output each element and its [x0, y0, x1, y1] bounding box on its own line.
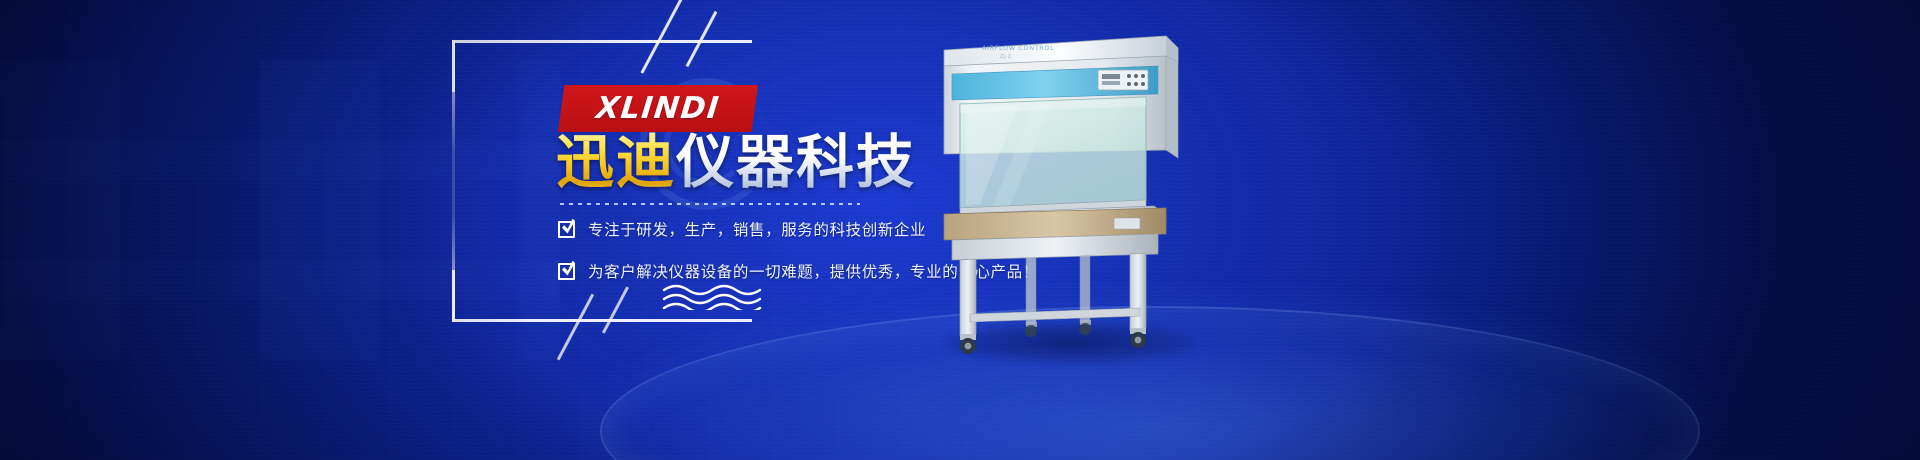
page-title-white-part: 仪器科技 — [676, 128, 916, 196]
product-brand-label: AIRFLOW CONTROL — [982, 44, 1054, 52]
castor-wheel — [1130, 328, 1146, 348]
castor-wheel — [1079, 320, 1091, 335]
castor-wheel — [1025, 322, 1037, 337]
title-divider — [560, 203, 860, 205]
brand-badge: XLINDI — [558, 85, 758, 132]
castor-wheel — [960, 334, 976, 354]
page-title: 迅迪仪器科技 — [556, 133, 916, 192]
list-item: 专注于研发，生产，销售，服务的科技创新企业 — [558, 212, 978, 246]
feature-bullet-list: 专注于研发，生产，销售，服务的科技创新企业 为客户解决仪器设备的一切难题，提供优… — [558, 212, 978, 296]
checkbox-check-icon — [558, 221, 575, 238]
list-item: 为客户解决仪器设备的一切难题，提供优秀，专业的良心产品！ — [558, 254, 978, 288]
corner-frame-left-rail — [452, 40, 455, 322]
product-sub-label: ZJ-2 — [1000, 54, 1011, 60]
page-title-gold-part: 迅迪 — [556, 128, 676, 196]
hero-banner: XLINDI 迅迪仪器科技 专注于研发，生产，销售，服务的科技创新企业 为客户解… — [0, 0, 1920, 460]
brand-badge-label: XLINDI — [556, 85, 761, 132]
checkbox-check-icon — [558, 263, 575, 280]
product-image-laminar-flow-cabinet: AIRFLOW CONTROL ZJ-2 — [930, 22, 1190, 362]
feature-bullet-text: 专注于研发，生产，销售，服务的科技创新企业 — [588, 218, 926, 240]
